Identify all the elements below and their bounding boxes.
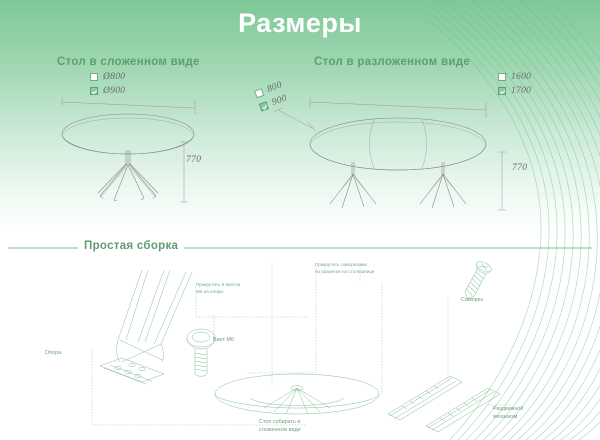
page-title: Размеры (0, 8, 600, 39)
annotation-self-tapping: Прикрутить саморезами по разметке на сто… (315, 261, 374, 275)
annotation-line: по разметке на столешнице (315, 269, 374, 274)
unfolded-height-dimension: 770 (512, 163, 527, 173)
poster-page: Размеры Стол в сложенном виде Ø800 Ø900 … (0, 0, 600, 440)
part-label-line: Раздвижной (493, 406, 523, 412)
part-label-support: Опора (45, 349, 61, 357)
folded-height-dimension: 770 (186, 155, 201, 165)
checkbox-unchecked-icon[interactable] (254, 88, 264, 98)
part-label-bolt: Винт М6 (213, 336, 234, 344)
section-heading-folded: Стол в сложенном виде (57, 56, 200, 68)
part-label-extension-mechanism: Раздвижной механизм (493, 405, 523, 421)
section-heading-unfolded: Стол в разложенном виде (314, 56, 470, 68)
note-line: Стол собирать в (259, 419, 300, 425)
note-line: сложенном виде (259, 427, 301, 433)
option-row[interactable]: Ø800 (90, 70, 125, 83)
part-label-line: механизм (493, 414, 517, 420)
part-label-self-tapping-screw: Саморез (461, 296, 483, 304)
annotation-line: Прикрутить саморезами (315, 262, 367, 267)
checkbox-unchecked-icon[interactable] (498, 73, 506, 81)
checkbox-unchecked-icon[interactable] (90, 73, 98, 81)
extension-mechanism-drawing (386, 370, 506, 432)
option-label: Ø800 (103, 72, 125, 82)
folded-table-drawing (52, 92, 252, 212)
note-assemble-folded: Стол собирать в сложенном виде (259, 418, 301, 434)
option-row[interactable]: 1600 (498, 70, 531, 83)
option-label: 1600 (511, 72, 531, 82)
unfolded-table-drawing (268, 88, 538, 218)
section-heading-assembly: Простая сборка (78, 240, 184, 252)
